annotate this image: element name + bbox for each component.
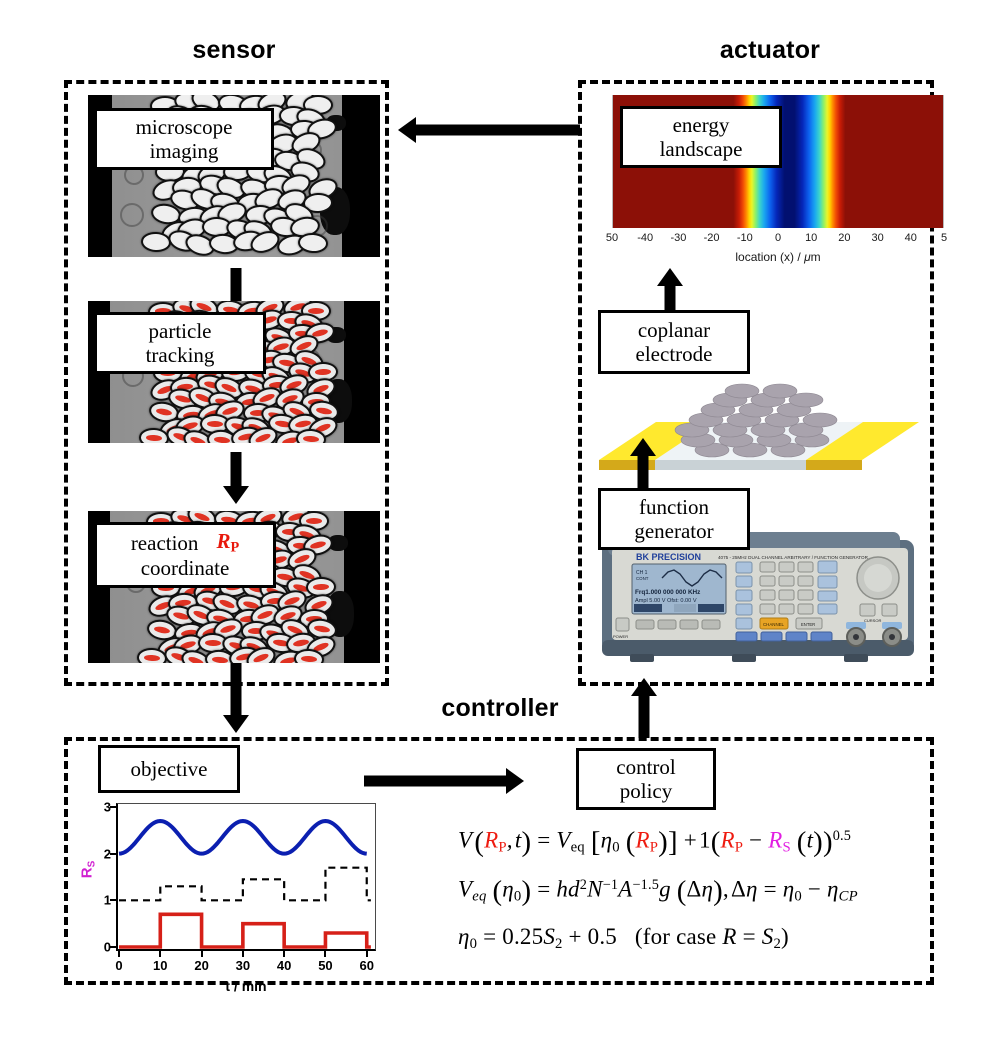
equation-2: Veq (η0) = hd2N−1A−1.5g (Δη), Δη = η0 − … bbox=[458, 875, 938, 908]
sensor-title: sensor bbox=[84, 36, 384, 65]
label-line-1: particle bbox=[149, 319, 212, 343]
objective-chart: 0123 0102030405060 bbox=[116, 803, 376, 951]
tracked-marker bbox=[313, 624, 330, 633]
objective-label: objective bbox=[98, 745, 240, 793]
chart-ytick-mark bbox=[110, 899, 116, 901]
energy-landscape-xtick: 0 bbox=[775, 232, 781, 244]
chart-canvas bbox=[116, 803, 376, 951]
chart-xtick: 30 bbox=[236, 958, 250, 973]
chart-ylabel: RS bbox=[79, 849, 98, 889]
label-line-1: energy bbox=[673, 113, 730, 137]
energy-landscape-label: energy landscape bbox=[620, 106, 782, 168]
tracked-marker bbox=[155, 407, 172, 416]
energy-landscape-xtick: 10 bbox=[805, 232, 817, 244]
label-line-2: landscape bbox=[660, 137, 743, 161]
tracked-marker bbox=[302, 436, 319, 443]
chart-xtick-mark bbox=[159, 951, 161, 957]
chart-xtick-mark bbox=[283, 951, 285, 957]
tracked-marker bbox=[146, 434, 163, 441]
label-line-2: tracking bbox=[146, 343, 215, 367]
energy-landscape-xtick: 40 bbox=[905, 232, 917, 244]
microscope-imaging-label: microscope imaging bbox=[94, 108, 274, 170]
reaction-coordinate-symbol: RP bbox=[216, 529, 239, 556]
label-line-1: function bbox=[639, 495, 709, 519]
tracked-marker bbox=[144, 654, 161, 661]
arrow-shaft bbox=[231, 268, 242, 304]
chart-xtick-mark bbox=[201, 951, 203, 957]
function-generator-label: function generator bbox=[598, 488, 750, 550]
tracked-marker bbox=[306, 518, 323, 524]
tracked-marker bbox=[213, 436, 230, 443]
micrograph-right-mask bbox=[342, 95, 380, 257]
tracked-marker bbox=[221, 405, 239, 416]
reaction-coordinate-symbol-subscript: P bbox=[230, 540, 239, 556]
series-red-step bbox=[119, 914, 371, 947]
svg-text:CONT: CONT bbox=[636, 576, 649, 581]
equation-3: η0 = 0.25S2 + 0.5 (for case R = S2) bbox=[458, 924, 938, 953]
arrow-head bbox=[223, 486, 249, 504]
control-policy-equations: V (RP, t) = Veq [η0 (RP)] + 1(RP − RS (t… bbox=[458, 826, 938, 969]
equation-1: V (RP, t) = Veq [η0 (RP)] + 1(RP − RS (t… bbox=[458, 826, 938, 859]
control-policy-label: control policy bbox=[576, 748, 716, 810]
svg-text:POWER: POWER bbox=[613, 634, 628, 639]
chart-xtick: 60 bbox=[360, 958, 374, 973]
label-line-2: policy bbox=[620, 779, 673, 803]
svg-text:ENTER: ENTER bbox=[801, 622, 815, 627]
arrow-head bbox=[506, 768, 524, 794]
reaction-coordinate-label: reaction RP coordinate bbox=[94, 522, 276, 588]
svg-text:Ampl 5.00 V Ofst: 0.00 V: Ampl 5.00 V Ofst: 0.00 V bbox=[635, 598, 697, 604]
arrow-sensor-to-controller bbox=[221, 663, 251, 733]
arrow-shaft bbox=[639, 694, 650, 738]
tracked-marker bbox=[257, 609, 275, 620]
label-line-2: electrode bbox=[636, 342, 713, 366]
arrow-shaft bbox=[412, 125, 580, 136]
arrow-shaft bbox=[364, 776, 510, 787]
svg-text:CURSOR: CURSOR bbox=[864, 618, 881, 623]
controller-title: controller bbox=[360, 694, 640, 723]
tracked-marker bbox=[300, 656, 317, 663]
tracked-marker bbox=[312, 583, 329, 590]
tracked-marker bbox=[314, 368, 331, 375]
label-line-1: microscope bbox=[136, 115, 233, 139]
tracked-marker bbox=[153, 625, 170, 634]
tracked-marker bbox=[254, 432, 272, 443]
chart-ytick-mark bbox=[110, 946, 116, 948]
tracked-marker bbox=[207, 420, 224, 426]
chart-xtick: 0 bbox=[115, 958, 122, 973]
svg-text:BK PRECISION: BK PRECISION bbox=[636, 552, 701, 562]
chart-xtick-mark bbox=[366, 951, 368, 957]
micrograph-right-mask bbox=[344, 511, 380, 663]
arrow-head bbox=[223, 715, 249, 733]
tracked-marker bbox=[315, 406, 332, 415]
tracked-marker bbox=[205, 639, 222, 645]
label-line-1: control bbox=[616, 755, 675, 779]
chart-xtick: 50 bbox=[318, 958, 332, 973]
energy-landscape-xtick: -40 bbox=[637, 232, 653, 244]
svg-text:CHANNEL: CHANNEL bbox=[763, 622, 785, 627]
arrow-head bbox=[398, 117, 416, 143]
tracked-marker bbox=[189, 435, 207, 443]
label-line-1: reaction bbox=[131, 531, 199, 555]
arrow-tracking-to-reaction bbox=[221, 452, 251, 504]
energy-landscape-xlabel: location (x) / μm bbox=[612, 250, 944, 264]
tracked-marker bbox=[259, 392, 277, 403]
arrow-actuator-to-sensor bbox=[398, 115, 580, 145]
energy-landscape-xtick: 5 bbox=[941, 232, 947, 244]
micrograph-right-mask bbox=[344, 301, 380, 443]
actuator-title: actuator bbox=[620, 36, 920, 65]
label-line-2: imaging bbox=[150, 139, 219, 163]
tracked-marker bbox=[219, 623, 237, 634]
chart-xtick-mark bbox=[324, 951, 326, 957]
label-line-1: objective bbox=[131, 757, 208, 781]
chart-xtick: 10 bbox=[153, 958, 167, 973]
energy-landscape-xtick: 50 bbox=[606, 232, 618, 244]
energy-landscape-xaxis: 50-40-30-20-100102030405 bbox=[612, 232, 944, 248]
energy-landscape-xtick: -10 bbox=[737, 232, 753, 244]
svg-text:4075 - 25MHz DUAL CHANNEL ARBI: 4075 - 25MHz DUAL CHANNEL ARBITRARY / FU… bbox=[718, 555, 869, 560]
tracked-marker bbox=[252, 652, 270, 663]
svg-text:Frq1.000 000 000 KHz: Frq1.000 000 000 KHz bbox=[635, 589, 700, 596]
energy-landscape-xtick: -30 bbox=[670, 232, 686, 244]
energy-landscape-xtick: 20 bbox=[838, 232, 850, 244]
chart-xtick: 40 bbox=[277, 958, 291, 973]
colloid-disks bbox=[675, 384, 837, 457]
chart-xtick-mark bbox=[242, 951, 244, 957]
coplanar-electrode-label: coplanar electrode bbox=[598, 310, 750, 374]
arrow-shaft bbox=[231, 663, 242, 717]
chart-ytick-mark bbox=[110, 806, 116, 808]
chart-xtick-mark bbox=[118, 951, 120, 957]
series-blue-sinusoid bbox=[119, 821, 367, 854]
chart-xlabel: t / min bbox=[116, 978, 376, 994]
label-line-2: generator bbox=[634, 519, 713, 543]
particle-tracking-label: particle tracking bbox=[94, 312, 266, 374]
chart-ytick-mark bbox=[110, 853, 116, 855]
arrow-shaft bbox=[231, 452, 242, 488]
chart-xtick: 20 bbox=[194, 958, 208, 973]
arrow-objective-to-policy bbox=[364, 766, 524, 796]
series-black-dashed-step bbox=[119, 868, 371, 901]
tracked-marker bbox=[187, 655, 205, 663]
label-line-2: coordinate bbox=[141, 556, 230, 580]
arrow-generator-to-electrode bbox=[628, 438, 658, 494]
energy-landscape-xtick: 30 bbox=[871, 232, 883, 244]
energy-landscape-xtick: -20 bbox=[704, 232, 720, 244]
micrograph-ring bbox=[120, 203, 144, 227]
label-line-1: coplanar bbox=[638, 318, 710, 342]
reaction-coordinate-row: reaction RP bbox=[131, 529, 239, 556]
